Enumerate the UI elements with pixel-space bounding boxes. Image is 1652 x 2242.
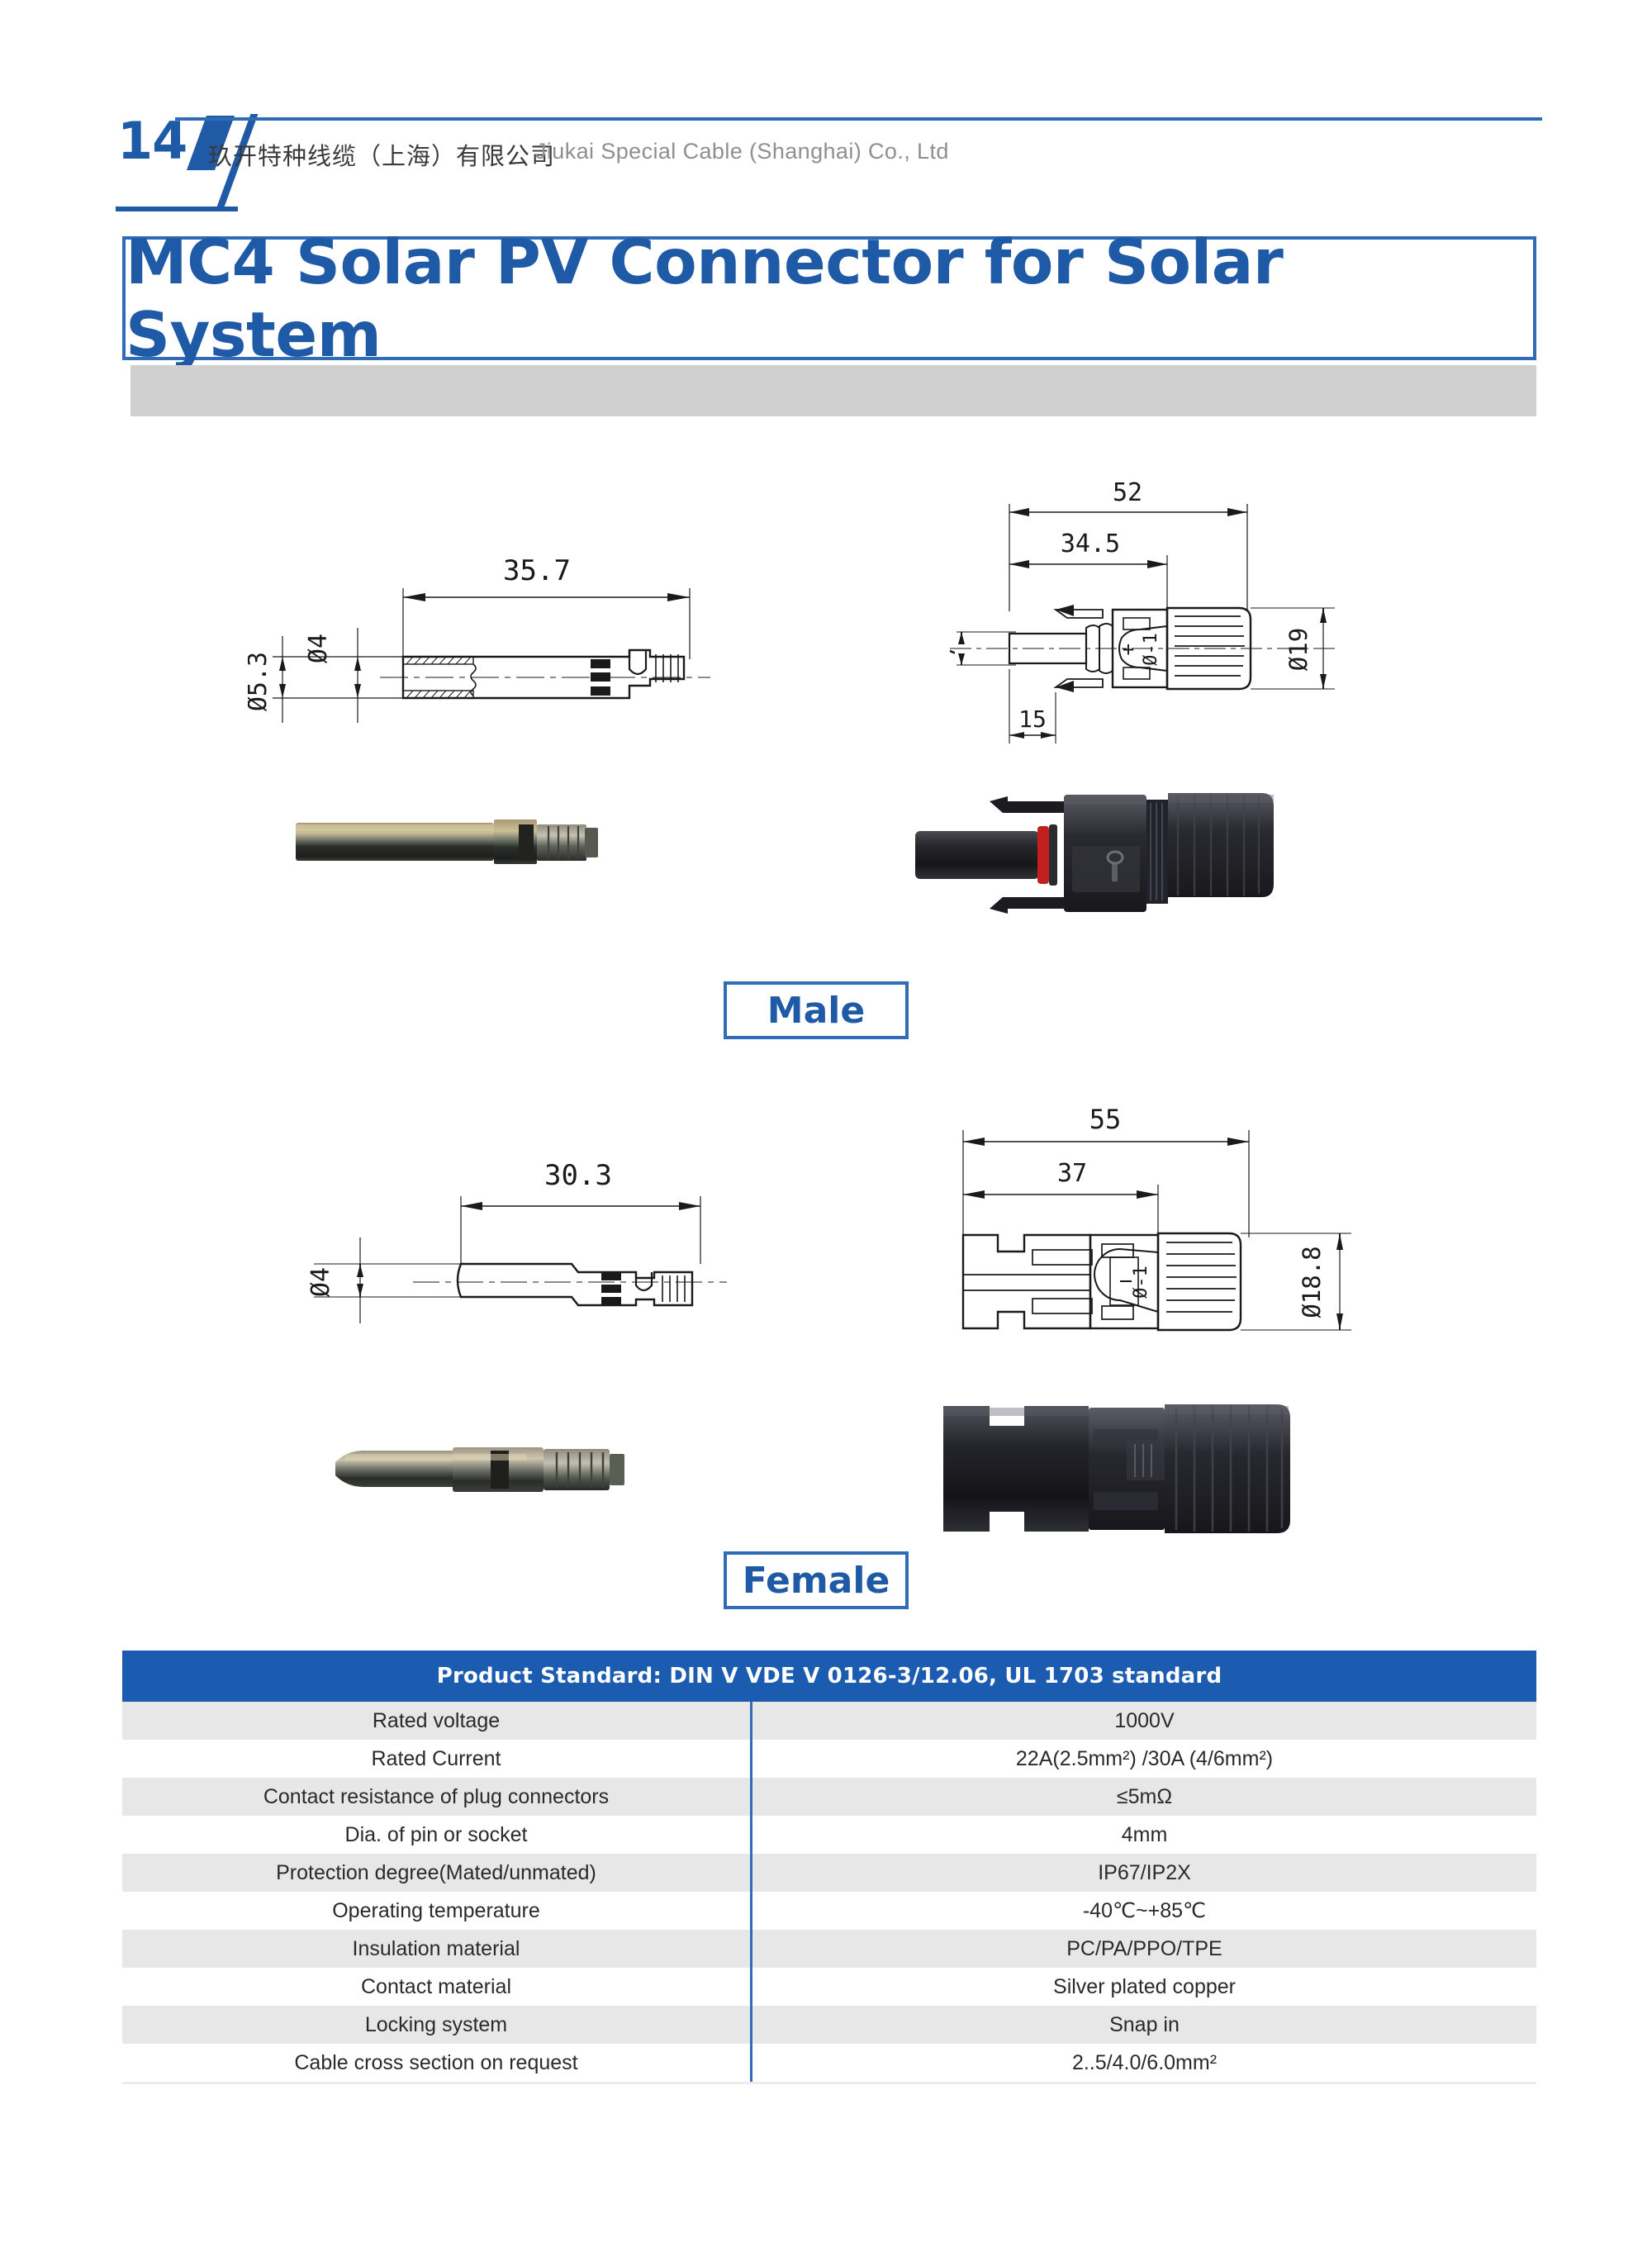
svg-text:34.5: 34.5 <box>1061 530 1120 558</box>
svg-text:55: 55 <box>1089 1104 1122 1135</box>
svg-text:+: + <box>1123 638 1134 661</box>
female-connector-housing-drawing: 55 37 Ø18.8 Ø-1 <box>925 1099 1371 1355</box>
svg-text:35.7: 35.7 <box>503 554 571 587</box>
label-male: Male <box>724 981 909 1039</box>
row-label: Rated voltage <box>122 1702 750 1740</box>
svg-text:Ø4: Ø4 <box>306 1267 335 1297</box>
row-label: Insulation material <box>122 1930 750 1968</box>
female-contact-socket-drawing: 30.3 Ø4 <box>281 1140 743 1330</box>
svg-text:7: 7 <box>950 644 961 658</box>
row-value: 4mm <box>752 1816 1536 1854</box>
table-row: Dia. of pin or socket 4mm <box>122 1816 1536 1854</box>
row-value: PC/PA/PPO/TPE <box>752 1930 1536 1968</box>
row-value: Silver plated copper <box>752 1968 1536 2006</box>
row-value: -40℃~+85℃ <box>752 1892 1536 1930</box>
svg-text:30.3: 30.3 <box>544 1159 612 1192</box>
table-row: Cable cross section on request 2..5/4.0/… <box>122 2044 1536 2082</box>
row-label: Contact resistance of plug connectors <box>122 1778 750 1816</box>
row-label: Rated Current <box>122 1740 750 1778</box>
row-label: Contact material <box>122 1968 750 2006</box>
table-row: Insulation material PC/PA/PPO/TPE <box>122 1930 1536 1968</box>
svg-text:Ø5.3: Ø5.3 <box>248 652 273 711</box>
page-title: MC4 Solar PV Connector for Solar System <box>126 240 1533 357</box>
table-row: Protection degree(Mated/unmated) IP67/IP… <box>122 1854 1536 1892</box>
company-name-chinese: 玖开特种线缆（上海）有限公司 <box>208 137 555 172</box>
svg-text:37: 37 <box>1057 1159 1087 1188</box>
table-row: Rated Current 22A(2.5mm²) /30A (4/6mm²) <box>122 1740 1536 1778</box>
row-value: ≤5mΩ <box>752 1778 1536 1816</box>
row-value: 2..5/4.0/6.0mm² <box>752 2044 1536 2082</box>
table-row: Rated voltage 1000V <box>122 1702 1536 1740</box>
male-connector-housing-drawing: 52 34.5 15 7 Ø19 Ø-1 + <box>950 463 1379 752</box>
header-rule <box>175 117 1542 121</box>
specification-table: Product Standard: DIN V VDE V 0126-3/12.… <box>122 1651 1536 2084</box>
row-label: Operating temperature <box>122 1892 750 1930</box>
female-connector-photo <box>932 1394 1303 1543</box>
female-contact-socket-photo <box>329 1427 676 1510</box>
male-contact-pin-drawing: 35.7 Ø4 Ø5.3 <box>248 529 743 743</box>
company-name-english: Jiukai Special Cable (Shanghai) Co., Ltd <box>535 139 949 164</box>
label-female: Female <box>724 1551 909 1609</box>
male-contact-pin-photo <box>287 800 651 871</box>
table-header: Product Standard: DIN V VDE V 0126-3/12.… <box>122 1651 1536 1702</box>
svg-text:52: 52 <box>1113 478 1142 507</box>
table-row: Contact resistance of plug connectors ≤5… <box>122 1778 1536 1816</box>
svg-text:15: 15 <box>1018 705 1047 733</box>
svg-text:Ø19: Ø19 <box>1284 628 1313 671</box>
row-label: Dia. of pin or socket <box>122 1816 750 1854</box>
svg-text:Ø-1: Ø-1 <box>1141 633 1161 666</box>
table-row: Contact material Silver plated copper <box>122 1968 1536 2006</box>
table-bottom-rule <box>122 2082 1536 2084</box>
table-row: Operating temperature -40℃~+85℃ <box>122 1892 1536 1930</box>
row-value: IP67/IP2X <box>752 1854 1536 1892</box>
page-number-underline <box>116 207 238 211</box>
row-value: 22A(2.5mm²) /30A (4/6mm²) <box>752 1740 1536 1778</box>
svg-text:Ø-1: Ø-1 <box>1131 1266 1151 1299</box>
male-connector-photo <box>899 767 1287 924</box>
row-label: Protection degree(Mated/unmated) <box>122 1854 750 1892</box>
page-title-box: MC4 Solar PV Connector for Solar System <box>122 236 1536 360</box>
row-value: 1000V <box>752 1702 1536 1740</box>
title-accent-bar <box>131 365 1536 416</box>
page-header: 14 玖开特种线缆（上海）有限公司 Jiukai Special Cable (… <box>0 0 1652 190</box>
row-value: Snap in <box>752 2006 1536 2044</box>
svg-text:Ø4: Ø4 <box>304 634 333 663</box>
page-number: 14 <box>117 116 187 167</box>
svg-text:Ø18.8: Ø18.8 <box>1298 1246 1326 1318</box>
row-label: Locking system <box>122 2006 750 2044</box>
row-label: Cable cross section on request <box>122 2044 750 2082</box>
table-row: Locking system Snap in <box>122 2006 1536 2044</box>
